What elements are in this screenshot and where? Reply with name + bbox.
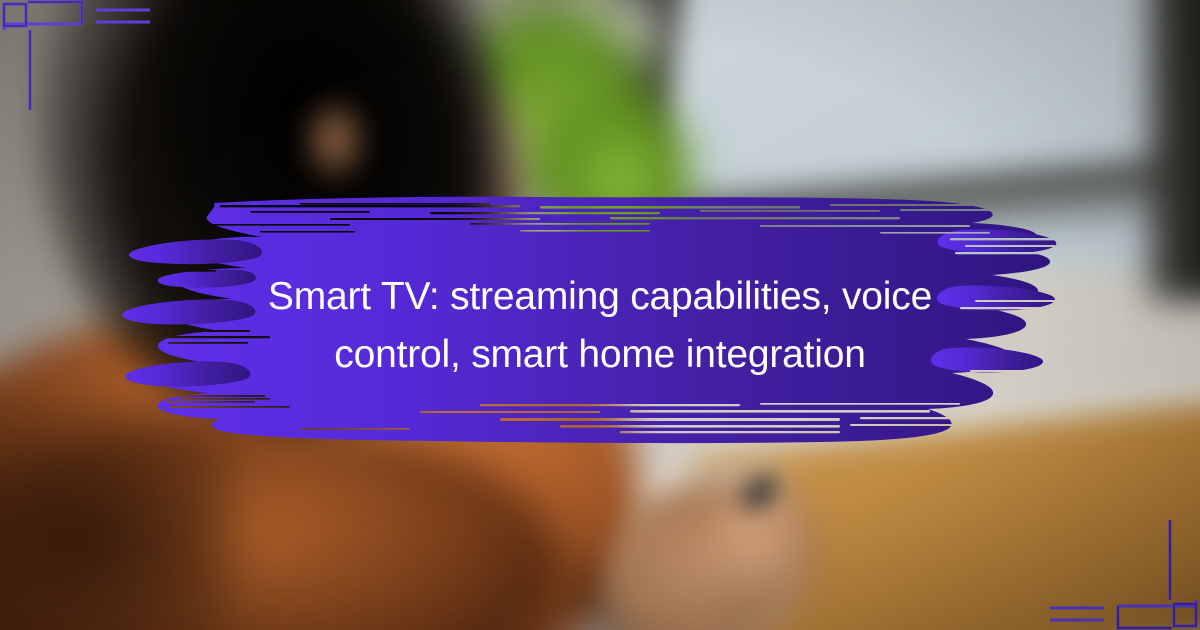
banner-headline: Smart TV: streaming capabilities, voice …: [230, 268, 970, 384]
banner-canvas: Smart TV: streaming capabilities, voice …: [0, 0, 1200, 630]
